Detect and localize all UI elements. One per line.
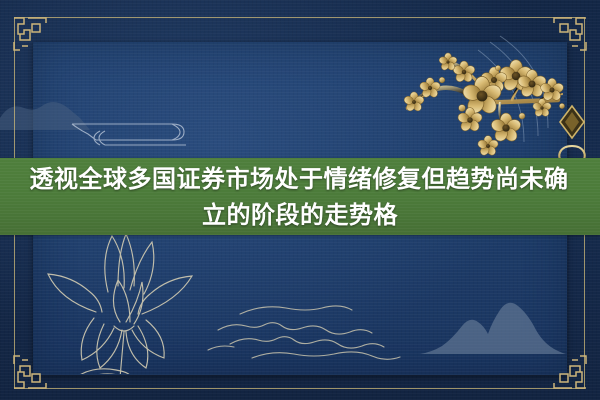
title-line-2: 立的阶段的走势格 xyxy=(202,197,398,233)
title-line-1: 透视全球多国证券市场处于情绪修复但趋势尚未确 xyxy=(30,161,569,197)
page-title: 透视全球多国证券市场处于情绪修复但趋势尚未确 立的阶段的走势格 xyxy=(0,160,600,233)
banner-image: 透视全球多国证券市场处于情绪修复但趋势尚未确 立的阶段的走势格 xyxy=(0,0,600,400)
